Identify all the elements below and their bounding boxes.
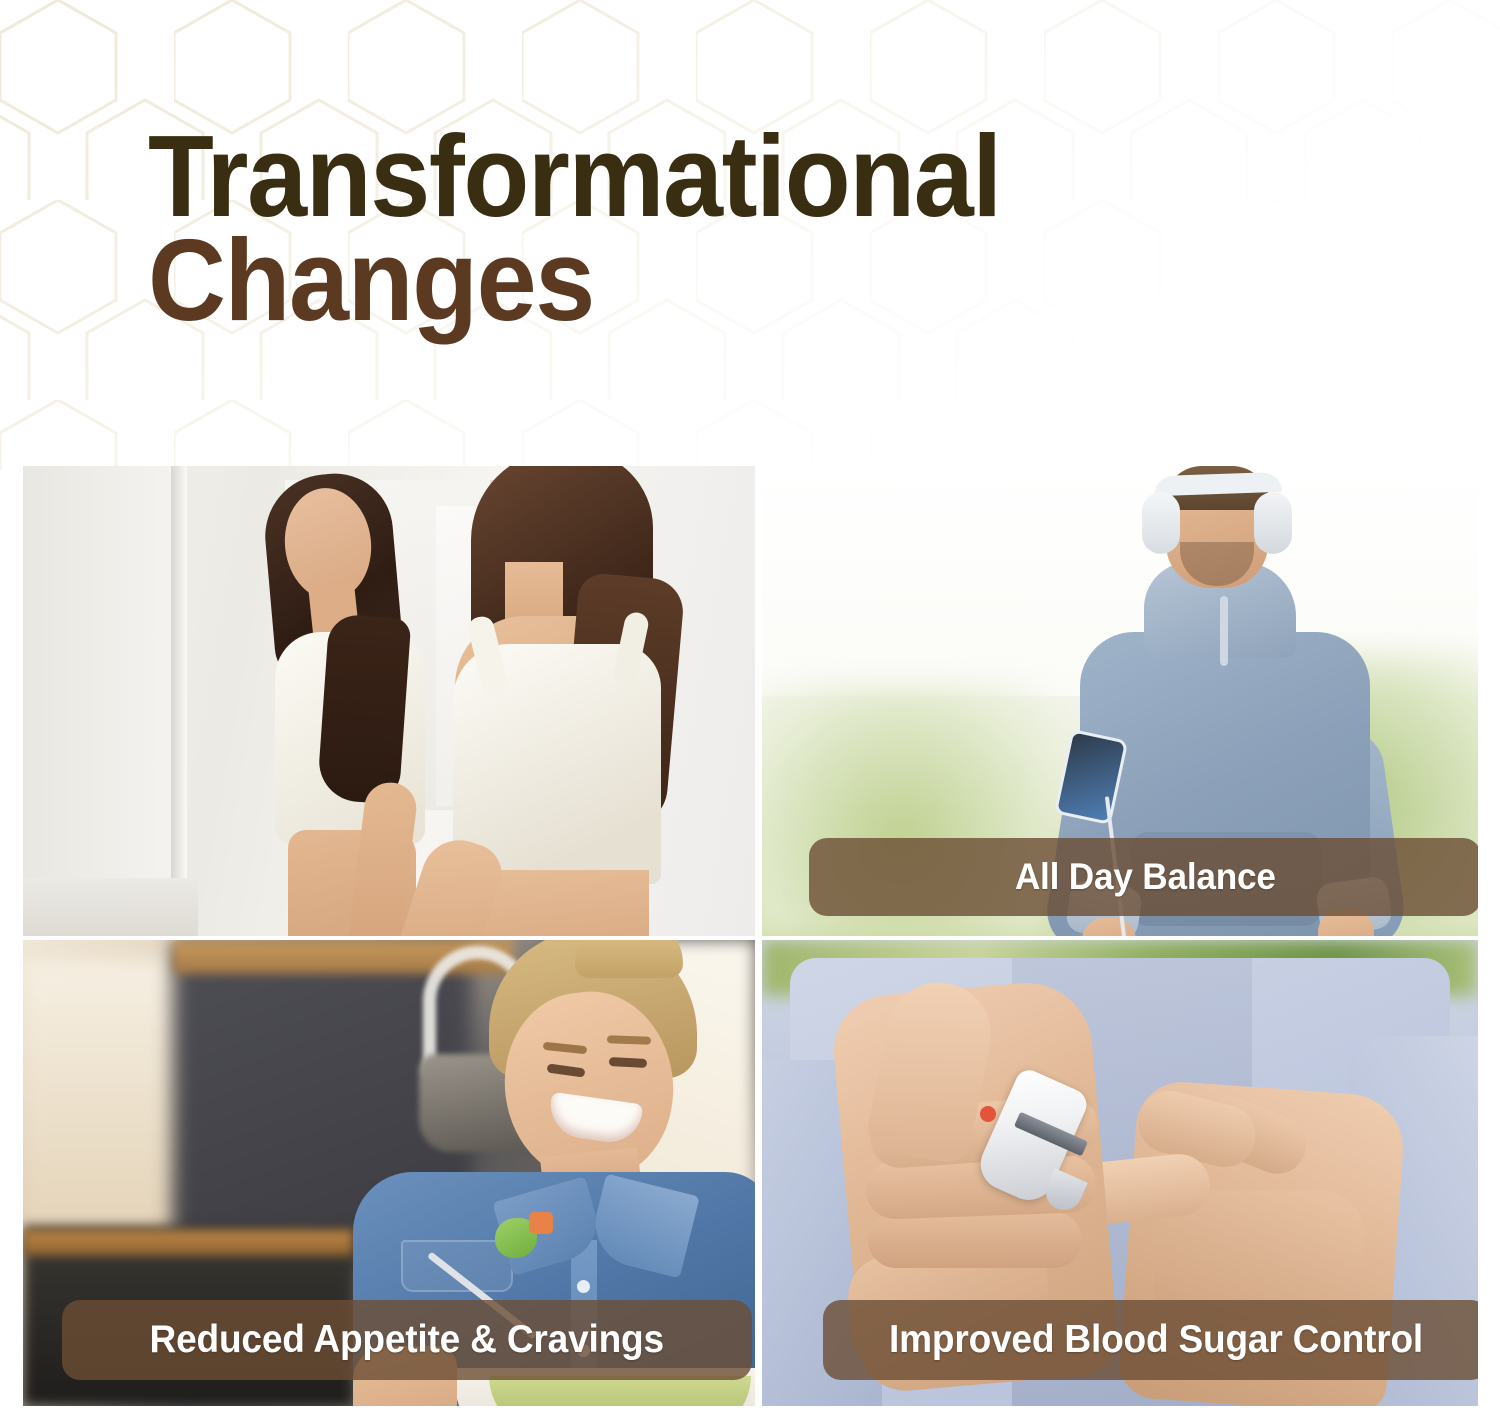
caption-label: Improved Blood Sugar Control [889, 1318, 1423, 1362]
caption-label: Reduced Appetite & Cravings [150, 1318, 664, 1362]
benefit-card-blood-sugar-control[interactable]: Improved Blood Sugar Control [762, 940, 1478, 1406]
benefit-card-healthy-weight-loss[interactable]: Healthy Weight Loss [23, 466, 755, 936]
caption-label: All Day Balance [1015, 856, 1276, 898]
benefits-image-grid: Healthy Weight Loss All Day Balance [23, 466, 1478, 1406]
benefit-card-reduced-appetite[interactable]: Reduced Appetite & Cravings [23, 940, 755, 1406]
caption-blood-sugar-control: Improved Blood Sugar Control [823, 1300, 1478, 1380]
page-title-line-2: Changes [148, 228, 1001, 332]
header: Transformational Changes [0, 0, 1500, 466]
weight-loss-photo [23, 466, 755, 936]
page-title: Transformational Changes [148, 124, 1001, 332]
benefit-card-all-day-balance[interactable]: All Day Balance [762, 466, 1478, 936]
page-title-line-1: Transformational [148, 124, 1001, 228]
caption-reduced-appetite: Reduced Appetite & Cravings [62, 1300, 752, 1380]
caption-all-day-balance: All Day Balance [809, 838, 1478, 916]
